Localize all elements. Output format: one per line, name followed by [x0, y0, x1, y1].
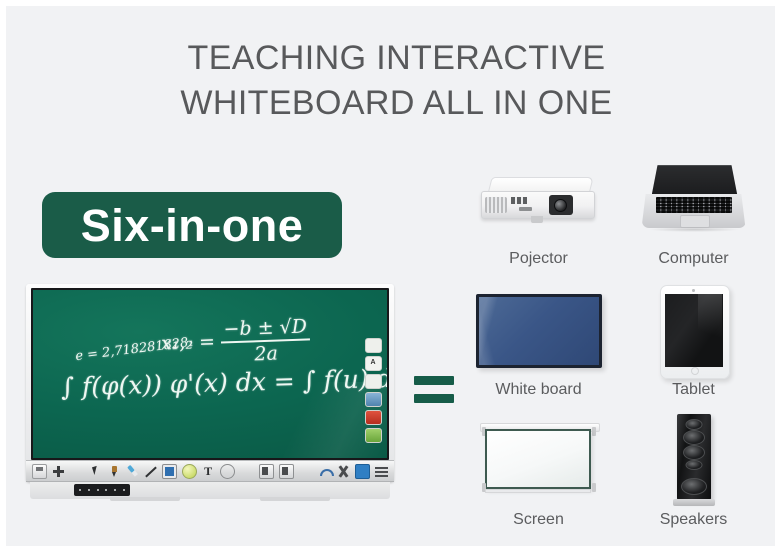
equals-sign: [414, 376, 454, 403]
device-label-computer: Computer: [658, 250, 728, 268]
device-label-tablet: Tablet: [672, 381, 715, 399]
six-in-one-badge: Six-in-one: [42, 192, 342, 258]
tools-icon[interactable]: [337, 465, 350, 478]
title-line-1: TEACHING INTERACTIVE: [6, 36, 781, 81]
page-title: TEACHING INTERACTIVE WHITEBOARD ALL IN O…: [6, 36, 781, 126]
eraser-icon[interactable]: [220, 464, 235, 479]
stand-foot-left: [110, 497, 180, 501]
stand-foot-right: [260, 497, 330, 501]
control-dot: [123, 489, 125, 491]
whiteboard-side-apps: A: [364, 338, 382, 443]
badge-label: Six-in-one: [81, 203, 304, 248]
laptop-icon: [624, 158, 764, 242]
page-prev-icon[interactable]: [259, 464, 274, 479]
device-label-projector: Pojector: [509, 250, 568, 268]
save-icon[interactable]: [32, 464, 47, 479]
page-next-icon[interactable]: [279, 464, 294, 479]
control-dot: [88, 489, 90, 491]
add-icon[interactable]: [52, 465, 65, 478]
whiteboard-toolbar: T: [26, 460, 394, 482]
projector-icon: [469, 158, 609, 242]
infographic-canvas: TEACHING INTERACTIVE WHITEBOARD ALL IN O…: [0, 0, 781, 552]
whiteboard-surface[interactable]: e = 2,718281828₁ x₁,₂ = −b ± √D 2a ∫ f(φ…: [31, 288, 389, 460]
device-grid: Pojector Computer: [461, 154, 771, 546]
undo-icon[interactable]: [319, 465, 332, 478]
control-dot: [114, 489, 116, 491]
quadratic-lhs: x₁,₂ =: [161, 331, 216, 355]
device-item-speakers: Speakers: [616, 415, 771, 546]
toolbar-page-group: [259, 464, 294, 479]
device-item-screen: Screen: [461, 415, 616, 546]
control-dot: [79, 489, 81, 491]
pen-icon[interactable]: [108, 465, 121, 478]
rectangle-icon[interactable]: [162, 464, 177, 479]
text-icon[interactable]: T: [202, 465, 215, 478]
app-recorder-icon[interactable]: [365, 338, 382, 353]
quadratic-denominator: 2a: [221, 340, 311, 366]
app-font-icon[interactable]: A: [365, 356, 382, 371]
control-dot: [105, 489, 107, 491]
toolbar-file-group: [32, 464, 65, 479]
interactive-whiteboard: e = 2,718281828₁ x₁,₂ = −b ± √D 2a ∫ f(φ…: [26, 284, 394, 499]
app-magnet-icon[interactable]: [365, 410, 382, 425]
formula-integral: ∫ f(φ(x)) φ'(x) dx = ∫ f(u) du: [61, 363, 389, 401]
circle-icon[interactable]: [182, 464, 197, 479]
screen-icon[interactable]: [355, 464, 370, 479]
whiteboard-frame: e = 2,718281828₁ x₁,₂ = −b ± √D 2a ∫ f(φ…: [26, 284, 394, 482]
device-item-tablet: Tablet: [616, 285, 771, 416]
tablet-icon: [624, 289, 764, 373]
app-pen-icon[interactable]: [365, 374, 382, 389]
equals-bar-top: [414, 376, 454, 385]
quadratic-fraction: −b ± √D 2a: [220, 315, 311, 366]
toolbar-system-group: [319, 464, 388, 479]
quadratic-numerator: −b ± √D: [220, 315, 310, 343]
formula-quadratic: x₁,₂ = −b ± √D 2a: [160, 315, 311, 368]
device-label-speakers: Speakers: [660, 511, 728, 529]
marker-icon[interactable]: [123, 462, 141, 480]
cursor-icon[interactable]: [90, 465, 103, 478]
device-item-computer: Computer: [616, 154, 771, 285]
line-icon[interactable]: [144, 465, 157, 478]
equals-bar-bottom: [414, 394, 454, 403]
projection-screen-icon: [469, 419, 609, 503]
whiteboard-bottom-bezel: [30, 482, 390, 499]
speaker-icon: [624, 419, 764, 503]
app-board-icon[interactable]: [365, 428, 382, 443]
device-item-whiteboard: White board: [461, 285, 616, 416]
control-dot: [97, 489, 99, 491]
control-panel[interactable]: [74, 484, 130, 496]
app-chart-icon[interactable]: [365, 392, 382, 407]
toolbar-tools-group: T: [90, 464, 235, 479]
title-line-2: WHITEBOARD ALL IN ONE: [6, 81, 781, 126]
display-panel-icon: [469, 289, 609, 373]
device-label-whiteboard: White board: [495, 381, 581, 399]
device-label-screen: Screen: [513, 511, 564, 529]
device-item-projector: Pojector: [461, 154, 616, 285]
menu-icon[interactable]: [375, 465, 388, 478]
